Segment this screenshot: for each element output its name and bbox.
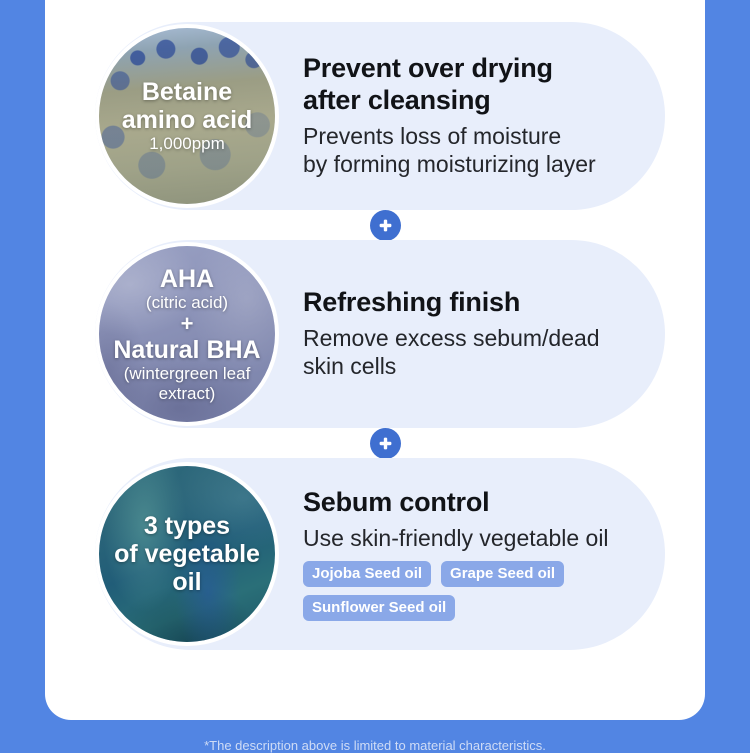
card-headline: Sebum control xyxy=(303,487,647,519)
ingredient-caption: 3 types of vegetable oil xyxy=(108,512,266,596)
acid-secondary: Natural BHA xyxy=(105,336,269,364)
oil-line3: oil xyxy=(114,568,260,596)
footnote-disclaimer: *The description above is limited to mat… xyxy=(0,738,750,753)
ingredient-image-vegetable-oil: 3 types of vegetable oil xyxy=(99,466,275,642)
headline-line-1: Refreshing finish xyxy=(303,287,647,319)
oil-line2: of vegetable xyxy=(114,540,260,568)
plus-connector-1 xyxy=(370,210,401,241)
body-line-2: by forming moisturizing layer xyxy=(303,150,647,179)
ingredient-tag: Grape Seed oil xyxy=(441,561,564,587)
card-copy: Refreshing finish Remove excess sebum/de… xyxy=(275,287,665,381)
ingredient-image-betaine: Betaine amino acid 1,000ppm xyxy=(99,28,275,204)
plus-separator: + xyxy=(105,313,269,335)
ingredient-name-line2: amino acid xyxy=(122,106,253,134)
headline-line-1: Sebum control xyxy=(303,487,647,519)
body-line-1: Use skin-friendly vegetable oil xyxy=(303,524,647,553)
acid-secondary-note: (wintergreen leaf extract) xyxy=(105,364,269,402)
feature-card-vegetable-oil: 3 types of vegetable oil Sebum control U… xyxy=(95,458,665,650)
ingredient-tag: Jojoba Seed oil xyxy=(303,561,431,587)
oil-line1: 3 types xyxy=(114,512,260,540)
plus-icon xyxy=(377,435,394,452)
card-copy: Sebum control Use skin-friendly vegetabl… xyxy=(275,487,665,621)
ingredient-amount: 1,000ppm xyxy=(122,134,253,153)
ingredient-name-line1: Betaine xyxy=(122,78,253,106)
feature-card-betaine: Betaine amino acid 1,000ppm Prevent over… xyxy=(95,22,665,210)
plus-icon xyxy=(377,217,394,234)
card-body: Remove excess sebum/dead skin cells xyxy=(303,324,647,381)
ingredient-caption: Betaine amino acid 1,000ppm xyxy=(116,78,259,153)
infographic-stage: Betaine amino acid 1,000ppm Prevent over… xyxy=(0,0,750,750)
ingredient-caption: AHA (citric acid) + Natural BHA (winterg… xyxy=(99,265,275,402)
acid-primary-note: (citric acid) xyxy=(105,293,269,312)
card-headline: Refreshing finish xyxy=(303,287,647,319)
feature-card-aha-bha: AHA (citric acid) + Natural BHA (winterg… xyxy=(95,240,665,428)
headline-line-2: after cleansing xyxy=(303,85,647,117)
body-line-1: Prevents loss of moisture xyxy=(303,122,647,151)
ingredient-image-aha-bha: AHA (citric acid) + Natural BHA (winterg… xyxy=(99,246,275,422)
card-body: Use skin-friendly vegetable oil xyxy=(303,524,647,553)
card-copy: Prevent over drying after cleansing Prev… xyxy=(275,53,665,179)
body-line-1: Remove excess sebum/dead xyxy=(303,324,647,353)
ingredient-tag: Sunflower Seed oil xyxy=(303,595,455,621)
headline-line-1: Prevent over drying xyxy=(303,53,647,85)
acid-primary: AHA xyxy=(105,265,269,293)
ingredient-tag-list: Jojoba Seed oil Grape Seed oil Sunflower… xyxy=(303,561,603,621)
card-headline: Prevent over drying after cleansing xyxy=(303,53,647,117)
body-line-2: skin cells xyxy=(303,352,647,381)
plus-connector-2 xyxy=(370,428,401,459)
card-body: Prevents loss of moisture by forming moi… xyxy=(303,122,647,179)
